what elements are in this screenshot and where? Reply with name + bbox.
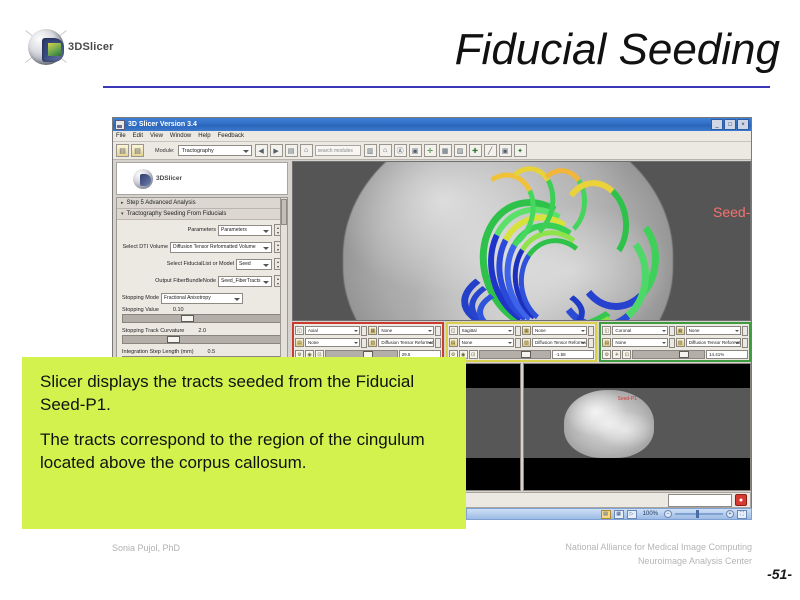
stopping-mode-selector[interactable]: Fractional Anisotropy bbox=[161, 293, 243, 304]
section-tractography-seeding-from-fiducials[interactable]: ▾ Tractography Seeding From Fiducials bbox=[117, 209, 287, 220]
seed-point-label: Seed-P1 bbox=[618, 396, 637, 402]
red-background-selector[interactable]: Diffusion Tensor Reformatted Volume bbox=[378, 338, 433, 347]
window-controls: _ □ × bbox=[711, 119, 749, 130]
slider-handle[interactable] bbox=[181, 315, 194, 322]
window-title: 3D Slicer Version 3.4 bbox=[128, 121, 711, 128]
app-icon bbox=[115, 120, 125, 130]
background-layer-icon[interactable]: ▨ bbox=[676, 338, 685, 347]
green-label-selector[interactable]: None bbox=[612, 338, 667, 347]
layout-fourup-icon[interactable]: Ⓐ bbox=[394, 144, 407, 157]
toolbar-separator bbox=[146, 144, 150, 157]
menu-edit[interactable]: Edit bbox=[133, 133, 143, 139]
green-offset-slider[interactable] bbox=[632, 350, 705, 359]
fiducial-icon[interactable]: ✚ bbox=[469, 144, 482, 157]
slider-value: 2.0 bbox=[198, 328, 206, 334]
ruler-icon[interactable]: ╱ bbox=[484, 144, 497, 157]
slice-controller-red: ◱ Axial ▦ None ▤ None ▨ Diffusion Tensor… bbox=[292, 322, 444, 362]
link-views-icon[interactable]: ⚙ bbox=[602, 350, 611, 359]
slider-track[interactable] bbox=[122, 314, 282, 323]
red-foreground-selector[interactable]: None bbox=[378, 326, 433, 335]
slicer-logo: 3DSlicer bbox=[22, 26, 142, 72]
module-home-icon[interactable]: ⌂ bbox=[300, 144, 313, 157]
menu-window[interactable]: Window bbox=[170, 133, 191, 139]
yellow-label-stepper[interactable] bbox=[515, 338, 521, 348]
callout-paragraph-1: Slicer displays the tracts seeded from t… bbox=[40, 371, 450, 416]
module-next-icon[interactable]: ▶ bbox=[270, 144, 283, 157]
field-label-dti-volume: Select DTI Volume bbox=[122, 244, 168, 250]
label-layer-icon[interactable]: ▤ bbox=[295, 338, 304, 347]
slice-controllers: ◱ Axial ▦ None ▤ None ▨ Diffusion Tensor… bbox=[292, 322, 751, 362]
form-row-stopping-mode: Stopping Mode Fractional Anisotropy bbox=[122, 291, 282, 305]
slide-sorter-icon[interactable]: ▦ bbox=[614, 510, 624, 519]
module-selector[interactable]: Tractography bbox=[178, 145, 252, 156]
yellow-orientation-stepper[interactable] bbox=[515, 326, 521, 336]
yellow-offset-slider[interactable] bbox=[479, 350, 552, 359]
slideshow-icon[interactable]: ▷ bbox=[627, 510, 637, 519]
form-row-output-node: Output FiberBundleNode Seed_FiberTracts … bbox=[122, 274, 282, 288]
yellow-background-selector[interactable]: Diffusion Tensor Reformatted Volume bbox=[532, 338, 587, 347]
zoom-in-button[interactable]: + bbox=[726, 510, 734, 518]
fit-window-icon[interactable]: ⊡ bbox=[622, 350, 631, 359]
form-row-dti-volume: Select DTI Volume Diffusion Tensor Refor… bbox=[122, 240, 282, 254]
foreground-layer-icon[interactable]: ▦ bbox=[676, 326, 685, 335]
field-label-stopping-mode: Stopping Mode bbox=[122, 295, 159, 301]
menu-help[interactable]: Help bbox=[198, 133, 210, 139]
zoom-slider-handle[interactable] bbox=[696, 510, 699, 518]
background-layer-icon[interactable]: ▨ bbox=[368, 338, 377, 347]
module-history-icon[interactable]: ▤ bbox=[285, 144, 298, 157]
green-foreground-selector[interactable]: None bbox=[686, 326, 741, 335]
panel-logo-text: 3DSlicer bbox=[156, 175, 182, 182]
screenshot-icon[interactable]: ▣ bbox=[499, 144, 512, 157]
layout-compare-icon[interactable]: ✛ bbox=[424, 144, 437, 157]
green-offset-value[interactable]: 14.41% bbox=[706, 350, 748, 359]
3d-view[interactable]: Seed-P1 bbox=[292, 161, 751, 321]
seed-point-label: Seed-P1 bbox=[713, 204, 751, 220]
slider-value: 0.5 bbox=[208, 349, 216, 355]
section-label: Step 5 Advanced Analysis bbox=[127, 200, 196, 206]
footer-org-line1: National Alliance for Medical Image Comp… bbox=[565, 541, 752, 555]
yellow-background-stepper[interactable] bbox=[588, 338, 594, 348]
yellow-label-selector[interactable]: None bbox=[459, 338, 514, 347]
label-layer-icon[interactable]: ▤ bbox=[602, 338, 611, 347]
logo-text: 3DSlicer bbox=[68, 41, 114, 53]
page-number: -51- bbox=[767, 566, 792, 582]
slider-handle[interactable] bbox=[167, 336, 180, 343]
red-orientation-stepper[interactable] bbox=[361, 326, 367, 336]
module-label: Module: bbox=[155, 148, 175, 154]
red-label-stepper[interactable] bbox=[361, 338, 367, 348]
minimize-button[interactable]: _ bbox=[711, 119, 723, 130]
extension-icon[interactable]: ✦ bbox=[514, 144, 527, 157]
logo-sphere-icon bbox=[28, 29, 64, 65]
layout-3d-icon[interactable]: ⌂ bbox=[379, 144, 392, 157]
normal-view-icon[interactable]: ▤ bbox=[601, 510, 611, 519]
slider-handle[interactable] bbox=[521, 351, 531, 358]
section-label: Tractography Seeding From Fiducials bbox=[127, 211, 227, 217]
form-row-parameters: Parameters Parameters ▴▾ bbox=[122, 223, 282, 237]
slice-controller-green: ◱ Coronal ▦ None ▤ None ▨ Diffusion Tens… bbox=[599, 322, 751, 362]
yellow-foreground-selector[interactable]: None bbox=[532, 326, 587, 335]
main-toolbar: ▤ ▤ Module: Tractography ◀ ▶ ▤ ⌂ search … bbox=[113, 142, 751, 160]
menu-bar: File Edit View Window Help Feedback bbox=[113, 131, 751, 142]
panel-logo: 3DSlicer bbox=[116, 162, 288, 195]
footer-org-line2: Neuroimage Analysis Center bbox=[565, 555, 752, 569]
fit-window-icon[interactable]: ⊡ bbox=[469, 350, 478, 359]
slide-header: 3DSlicer Fiducial Seeding bbox=[0, 0, 800, 100]
powerpoint-status-bar: ▤ ▦ ▷ 100% − + ⛶ bbox=[466, 508, 752, 520]
title-divider bbox=[103, 86, 770, 88]
fit-slide-icon[interactable]: ⛶ bbox=[737, 510, 747, 519]
menu-feedback[interactable]: Feedback bbox=[218, 133, 244, 139]
search-input[interactable]: search modules bbox=[315, 145, 361, 156]
red-label-selector[interactable]: None bbox=[305, 338, 360, 347]
foreground-layer-icon[interactable]: ▦ bbox=[522, 326, 531, 335]
slider-label: Stopping Value bbox=[122, 307, 159, 313]
field-label-fiducial-list: Select FiducialList or Model bbox=[167, 261, 234, 267]
menu-file[interactable]: File bbox=[116, 133, 126, 139]
status-progress-field bbox=[668, 494, 732, 507]
green-orientation-stepper[interactable] bbox=[669, 326, 675, 336]
zoom-level: 100% bbox=[643, 511, 658, 517]
slider-stopping-value: Stopping Value 0.10 bbox=[122, 307, 282, 323]
zoom-slider[interactable] bbox=[675, 513, 723, 515]
window-titlebar: 3D Slicer Version 3.4 _ □ × bbox=[113, 118, 751, 131]
green-background-selector[interactable]: Diffusion Tensor Reformatted Volume bbox=[686, 338, 741, 347]
chevron-down-icon: ▾ bbox=[121, 211, 124, 217]
label-layer-icon[interactable]: ▤ bbox=[449, 338, 458, 347]
red-orientation-selector[interactable]: Axial bbox=[305, 326, 360, 335]
slice-visibility-icon[interactable]: ◱ bbox=[602, 326, 611, 335]
save-scene-icon[interactable]: ▤ bbox=[131, 144, 144, 157]
fiducial-list-selector[interactable]: Seed bbox=[236, 259, 272, 270]
stop-button[interactable]: ● bbox=[735, 494, 747, 506]
green-label-stepper[interactable] bbox=[669, 338, 675, 348]
foreground-layer-icon[interactable]: ▦ bbox=[368, 326, 377, 335]
page-title: Fiducial Seeding bbox=[330, 20, 780, 82]
yellow-offset-value[interactable]: -1.58 bbox=[552, 350, 594, 359]
slice-visibility-icon[interactable]: ◱ bbox=[295, 326, 304, 335]
yellow-foreground-stepper[interactable] bbox=[588, 326, 594, 336]
yellow-orientation-selector[interactable]: Sagittal bbox=[459, 326, 514, 335]
footer-organization: National Alliance for Medical Image Comp… bbox=[565, 541, 752, 568]
field-label-parameters: Parameters bbox=[188, 227, 216, 233]
layout-conventional-icon[interactable]: ▥ bbox=[364, 144, 377, 157]
slider-label: Integration Step Length (mm) bbox=[122, 349, 194, 355]
visibility-toggle-icon[interactable]: ✳ bbox=[612, 350, 621, 359]
zoom-out-button[interactable]: − bbox=[664, 510, 672, 518]
field-label-output-node: Output FiberBundleNode bbox=[155, 278, 216, 284]
background-layer-icon[interactable]: ▨ bbox=[522, 338, 531, 347]
menu-view[interactable]: View bbox=[150, 133, 163, 139]
coronal-slice-view[interactable]: Seed-P1 bbox=[523, 363, 752, 491]
slider-track[interactable] bbox=[122, 335, 282, 344]
slice-visibility-icon[interactable]: ◱ bbox=[449, 326, 458, 335]
maximize-button[interactable]: □ bbox=[724, 119, 736, 130]
slider-handle[interactable] bbox=[679, 351, 689, 358]
layout-oneup-icon[interactable]: ▣ bbox=[409, 144, 422, 157]
scrollbar-thumb[interactable] bbox=[281, 199, 287, 225]
green-foreground-stepper[interactable] bbox=[742, 326, 748, 336]
load-scene-icon[interactable]: ▤ bbox=[116, 144, 129, 157]
callout-textbox: Slicer displays the tracts seeded from t… bbox=[22, 357, 466, 529]
brain-coronal-image bbox=[564, 390, 654, 458]
section-step5-advanced-analysis[interactable]: ▸ Step 5 Advanced Analysis bbox=[117, 198, 287, 209]
close-button[interactable]: × bbox=[737, 119, 749, 130]
slider-stopping-track-curvature: Stopping Track Curvature 2.0 bbox=[122, 328, 282, 344]
slider-value: 0.10 bbox=[173, 307, 184, 313]
red-background-stepper[interactable] bbox=[435, 338, 441, 348]
output-fiberbundle-selector[interactable]: Seed_FiberTracts bbox=[218, 276, 272, 287]
layout-tabbed-icon[interactable]: ▦ bbox=[439, 144, 452, 157]
module-prev-icon[interactable]: ◀ bbox=[255, 144, 268, 157]
footer-author: Sonia Pujol, PhD bbox=[112, 543, 180, 553]
slider-label: Stopping Track Curvature bbox=[122, 328, 184, 334]
chevron-right-icon: ▸ bbox=[121, 200, 124, 206]
red-foreground-stepper[interactable] bbox=[435, 326, 441, 336]
parameters-selector[interactable]: Parameters bbox=[218, 225, 272, 236]
slice-controller-yellow: ◱ Sagittal ▦ None ▤ None ▨ Diffusion Ten… bbox=[446, 322, 598, 362]
dti-volume-selector[interactable]: Diffusion Tensor Reformatted Volume bbox=[170, 242, 272, 253]
form-row-fiducial-list: Select FiducialList or Model Seed ▴▾ bbox=[122, 257, 282, 271]
callout-paragraph-2: The tracts correspond to the region of t… bbox=[40, 429, 450, 474]
layout-lightbox-icon[interactable]: ▨ bbox=[454, 144, 467, 157]
green-orientation-selector[interactable]: Coronal bbox=[612, 326, 667, 335]
green-background-stepper[interactable] bbox=[742, 338, 748, 348]
